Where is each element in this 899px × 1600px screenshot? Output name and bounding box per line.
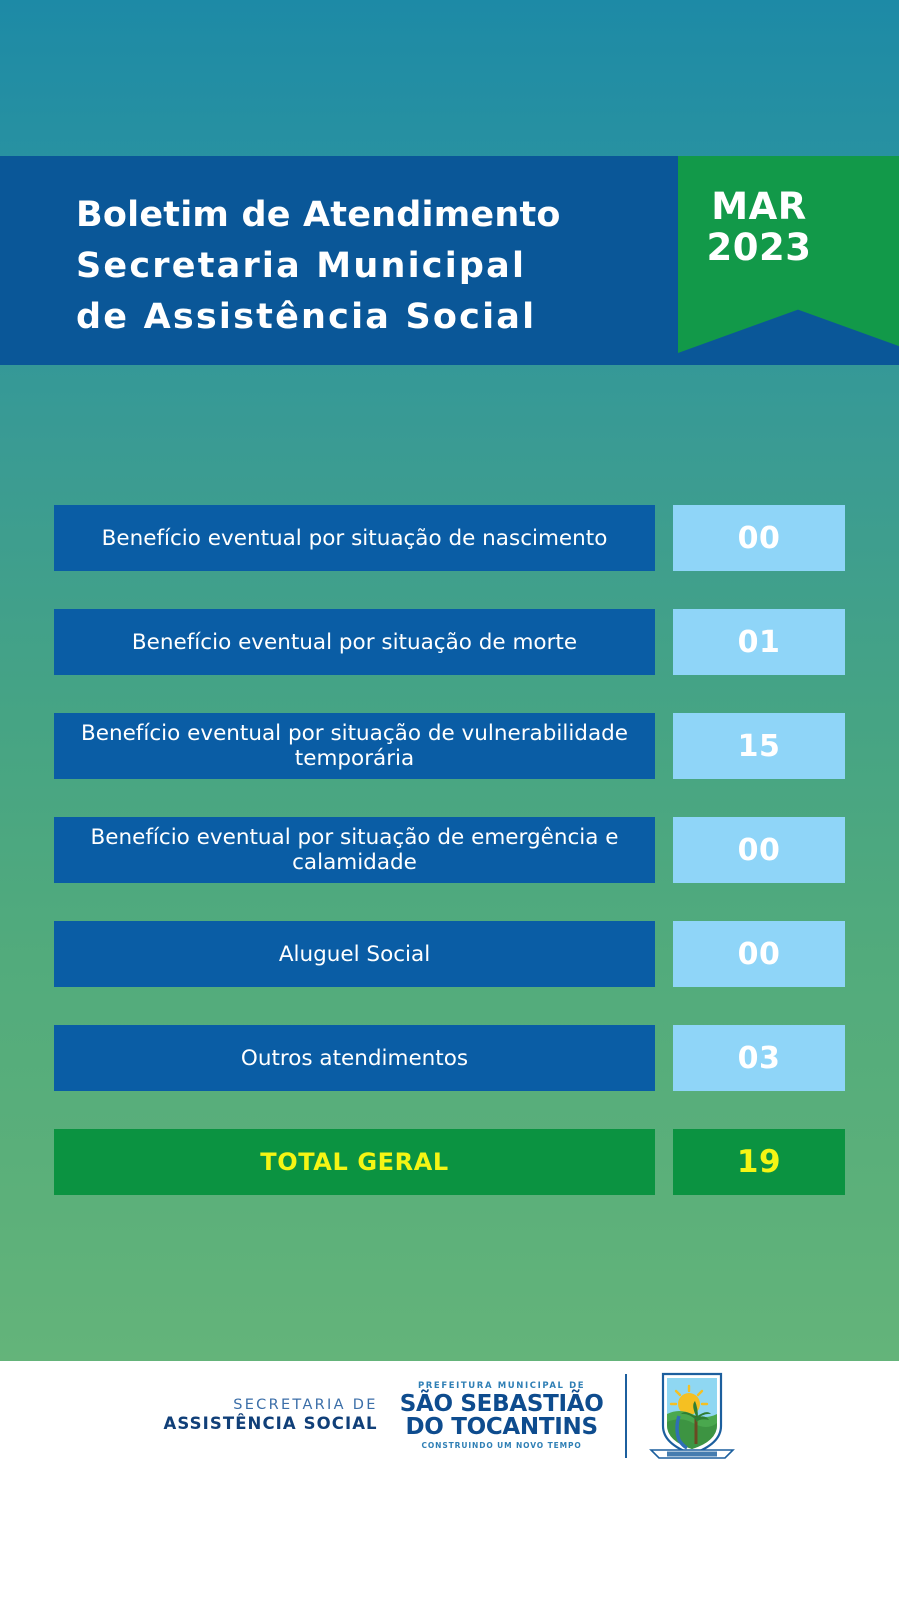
row-value: 00 [673,505,845,571]
row-label: Benefício eventual por situação de emerg… [54,817,655,883]
page-title: Boletim de Atendimento Secretaria Munici… [76,190,656,343]
row-label: Benefício eventual por situação de morte [54,609,655,675]
prefeitura-line-4: CONSTRUINDO UM NOVO TEMPO [400,1442,604,1450]
total-value: 19 [673,1129,845,1195]
secretaria-logo: SECRETARIA DE ASSISTÊNCIA SOCIAL [164,1397,378,1434]
table-row-total: TOTAL GERAL 19 [54,1129,845,1195]
row-label: Outros atendimentos [54,1025,655,1091]
boletim-poster: Boletim de Atendimento Secretaria Munici… [0,0,899,1600]
prefeitura-logo: PREFEITURA MUNICIPAL DE SÃO SEBASTIÃO DO… [400,1382,604,1449]
table-row: Benefício eventual por situação de nasci… [54,505,845,571]
total-label: TOTAL GERAL [54,1129,655,1195]
row-value: 03 [673,1025,845,1091]
title-line-2: Secretaria Municipal [76,241,656,292]
title-line-1: Boletim de Atendimento [76,190,656,241]
row-label: Benefício eventual por situação de nasci… [54,505,655,571]
period-year: 2023 [678,227,840,268]
prefeitura-line-2: SÃO SEBASTIÃO [400,1393,604,1416]
benefits-table: Benefício eventual por situação de nasci… [54,505,845,1195]
period-month: MAR [678,186,840,227]
row-value: 00 [673,921,845,987]
secretaria-line-1: SECRETARIA DE [164,1397,378,1414]
period-badge-text: MAR 2023 [678,186,840,268]
row-value: 01 [673,609,845,675]
prefeitura-line-1: PREFEITURA MUNICIPAL DE [400,1382,604,1391]
footer-divider [625,1374,627,1458]
coat-of-arms-icon [649,1368,735,1464]
table-row: Benefício eventual por situação de morte… [54,609,845,675]
row-label: Aluguel Social [54,921,655,987]
title-line-3: de Assistência Social [76,292,656,343]
table-row: Outros atendimentos 03 [54,1025,845,1091]
table-row: Benefício eventual por situação de vulne… [54,713,845,779]
row-value: 00 [673,817,845,883]
table-row: Aluguel Social 00 [54,921,845,987]
secretaria-line-2: ASSISTÊNCIA SOCIAL [164,1414,378,1433]
row-value: 15 [673,713,845,779]
row-label: Benefício eventual por situação de vulne… [54,713,655,779]
table-row: Benefício eventual por situação de emerg… [54,817,845,883]
footer-logos: SECRETARIA DE ASSISTÊNCIA SOCIAL PREFEIT… [0,1361,899,1600]
prefeitura-line-3: DO TOCANTINS [400,1416,604,1439]
